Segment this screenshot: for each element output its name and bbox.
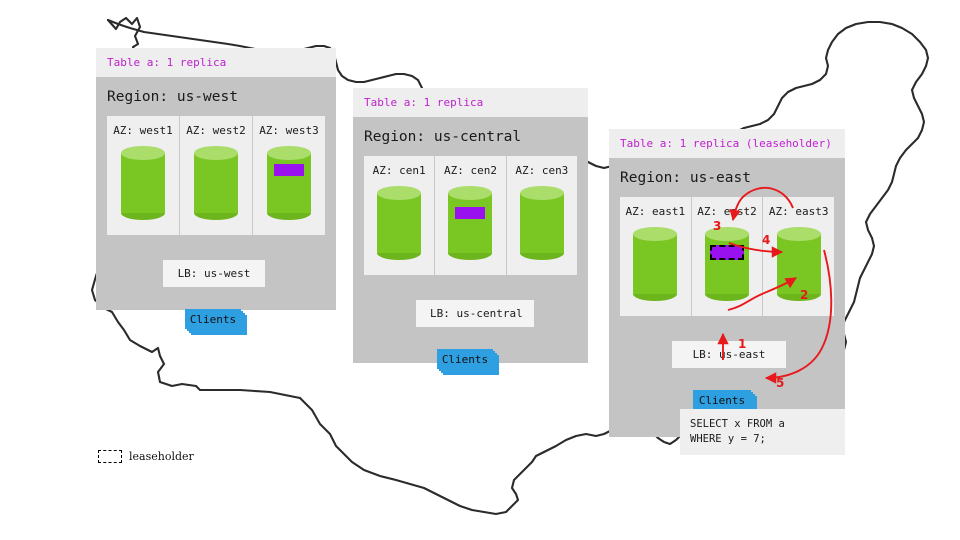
leaseholder-swatch-icon bbox=[98, 450, 122, 463]
leaseholder-marker-east2 bbox=[710, 245, 744, 260]
az-strip-us-central: AZ: cen1 AZ: cen2 bbox=[364, 156, 577, 275]
step-number-4: 4 bbox=[762, 233, 770, 247]
region-panel-us-west: Table a: 1 replica Region: us-west AZ: w… bbox=[96, 48, 336, 310]
diagram-canvas: Table a: 1 replica Region: us-west AZ: w… bbox=[0, 0, 960, 540]
region-panel-us-east: Table a: 1 replica (leaseholder) Region:… bbox=[609, 129, 845, 437]
load-balancer-us-central[interactable]: LB: us-central bbox=[416, 300, 534, 327]
db-cylinder-east2[interactable] bbox=[705, 227, 749, 301]
load-balancer-us-east[interactable]: LB: us-east bbox=[672, 341, 786, 368]
az-label-cen2: AZ: cen2 bbox=[435, 164, 505, 177]
region-panel-us-central: Table a: 1 replica Region: us-central AZ… bbox=[353, 88, 588, 363]
region-title-us-west: Region: us-west bbox=[96, 77, 336, 116]
db-cylinder-west1[interactable] bbox=[121, 146, 165, 220]
cylinder-body bbox=[705, 234, 749, 294]
cylinder-top bbox=[267, 146, 311, 160]
step-number-2: 2 bbox=[800, 288, 808, 302]
db-cylinder-east3[interactable] bbox=[777, 227, 821, 301]
az-cell-west3[interactable]: AZ: west3 bbox=[253, 116, 325, 235]
az-cell-east3[interactable]: AZ: east3 bbox=[763, 197, 834, 316]
cylinder-body bbox=[377, 193, 421, 253]
cylinder-top bbox=[194, 146, 238, 160]
clients-label-us-central[interactable]: Clients bbox=[437, 349, 493, 369]
clients-label-us-east[interactable]: Clients bbox=[693, 390, 751, 411]
az-label-east3: AZ: east3 bbox=[763, 205, 834, 218]
step-number-5: 5 bbox=[776, 376, 784, 390]
cylinder-body bbox=[267, 153, 311, 213]
load-balancer-us-west[interactable]: LB: us-west bbox=[163, 260, 265, 287]
region-body-us-east: Region: us-east AZ: east1 AZ: east2 bbox=[609, 158, 845, 437]
az-label-west1: AZ: west1 bbox=[107, 124, 179, 137]
cylinder-body bbox=[633, 234, 677, 294]
az-cell-east1[interactable]: AZ: east1 bbox=[620, 197, 692, 316]
db-cylinder-cen1[interactable] bbox=[377, 186, 421, 260]
region-header-us-west: Table a: 1 replica bbox=[96, 48, 336, 77]
region-body-us-west: Region: us-west AZ: west1 AZ: west2 bbox=[96, 77, 336, 310]
az-label-east1: AZ: east1 bbox=[620, 205, 691, 218]
legend-label: leaseholder bbox=[129, 450, 194, 463]
az-cell-cen1[interactable]: AZ: cen1 bbox=[364, 156, 435, 275]
az-label-cen1: AZ: cen1 bbox=[364, 164, 434, 177]
replica-marker-west3 bbox=[274, 164, 304, 176]
db-cylinder-cen3[interactable] bbox=[520, 186, 564, 260]
cylinder-body bbox=[121, 153, 165, 213]
db-cylinder-east1[interactable] bbox=[633, 227, 677, 301]
db-cylinder-west3[interactable] bbox=[267, 146, 311, 220]
cylinder-top bbox=[633, 227, 677, 241]
clients-stack-us-central[interactable]: Clients bbox=[437, 349, 499, 375]
region-title-us-east: Region: us-east bbox=[609, 158, 845, 197]
replica-marker-cen2 bbox=[455, 207, 485, 219]
region-body-us-central: Region: us-central AZ: cen1 AZ: cen2 bbox=[353, 117, 588, 363]
az-strip-us-west: AZ: west1 AZ: west2 bbox=[107, 116, 325, 235]
db-cylinder-cen2[interactable] bbox=[448, 186, 492, 260]
region-title-us-central: Region: us-central bbox=[353, 117, 588, 156]
region-header-us-central: Table a: 1 replica bbox=[353, 88, 588, 117]
sql-query-box: SELECT x FROM a WHERE y = 7; bbox=[680, 409, 845, 455]
step-number-1: 1 bbox=[738, 337, 746, 351]
legend: leaseholder bbox=[98, 450, 194, 463]
cylinder-body bbox=[194, 153, 238, 213]
az-label-west3: AZ: west3 bbox=[253, 124, 325, 137]
db-cylinder-west2[interactable] bbox=[194, 146, 238, 220]
cylinder-top bbox=[705, 227, 749, 241]
az-cell-east2[interactable]: AZ: east2 bbox=[692, 197, 764, 316]
az-cell-cen3[interactable]: AZ: cen3 bbox=[507, 156, 577, 275]
az-label-east2: AZ: east2 bbox=[692, 205, 763, 218]
az-cell-west1[interactable]: AZ: west1 bbox=[107, 116, 180, 235]
clients-label-us-west[interactable]: Clients bbox=[185, 309, 241, 329]
cylinder-top bbox=[520, 186, 564, 200]
az-cell-cen2[interactable]: AZ: cen2 bbox=[435, 156, 506, 275]
az-label-cen3: AZ: cen3 bbox=[507, 164, 577, 177]
cylinder-top bbox=[777, 227, 821, 241]
cylinder-body bbox=[777, 234, 821, 294]
cylinder-body bbox=[520, 193, 564, 253]
cylinder-body bbox=[448, 193, 492, 253]
az-label-west2: AZ: west2 bbox=[180, 124, 252, 137]
cylinder-top bbox=[121, 146, 165, 160]
az-cell-west2[interactable]: AZ: west2 bbox=[180, 116, 253, 235]
cylinder-top bbox=[377, 186, 421, 200]
region-header-us-east: Table a: 1 replica (leaseholder) bbox=[609, 129, 845, 158]
step-number-3: 3 bbox=[713, 219, 721, 233]
clients-stack-us-west[interactable]: Clients bbox=[185, 309, 247, 335]
